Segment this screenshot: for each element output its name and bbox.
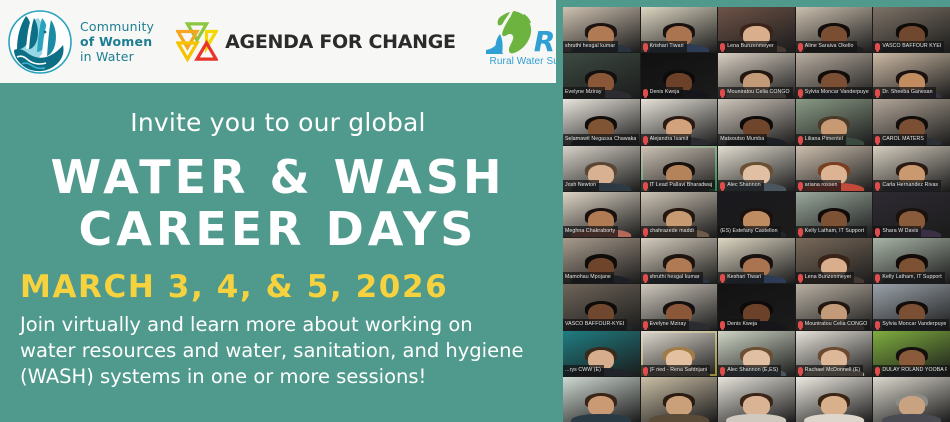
participant-video [873,377,950,422]
globe-icon [484,8,540,58]
muted-mic-icon [875,136,880,143]
invite-body: Join virtually and learn more about work… [14,312,542,390]
muted-mic-icon [720,89,725,96]
participant-name: Evelyne Mziray [650,319,687,330]
participant-tile[interactable] [873,377,950,422]
invite-kicker: Invite you to our global [14,108,542,137]
participant-tile[interactable]: Liliana Pimentel [796,99,873,144]
participant-tile[interactable]: Aline Saraiva Okello [796,7,873,52]
participant-name-bar: Lena Bunzenmeyer [796,272,855,283]
participant-name-bar: chahrazede maddi [641,226,697,237]
invite-copy: Invite you to our global WATER & WASH CA… [0,83,556,422]
participant-tile[interactable]: Sylvia Moncar Vanderpuye [873,284,950,329]
logo-bar: Community of Women in Water AGENDA FOR C… [0,0,556,83]
participant-name: Selamawit Negassa Chawaka [565,134,636,145]
participant-tile[interactable]: Denis Kweja [718,284,795,329]
participant-name-bar: VASCO BAFFOUR KYEI [873,41,944,52]
invite-body-line-1: Join virtually and learn more about work… [20,312,534,338]
participant-name: Keshari Tiwari [727,272,761,283]
cww-faces-circle-icon [8,10,72,74]
participant-tile[interactable]: Lena Bunzenmeyer [718,7,795,52]
participant-tile[interactable]: Josh Newton [563,146,640,191]
muted-mic-icon [798,321,803,328]
participant-tile[interactable]: Kelly Latham, IT Support [873,238,950,283]
participant-name-bar: (F ried - Rena Safdrijani [641,365,711,376]
muted-mic-icon [798,274,803,281]
participant-tile[interactable] [641,377,718,422]
participant-name: Matsoutso Mumba [720,134,764,145]
participant-name: Aline Saraiva Okello [805,41,854,52]
participant-name-bar: Matsoutso Mumba [718,134,767,145]
participant-tile[interactable] [563,377,640,422]
participant-name: ...rys CWW (E) [565,365,601,376]
invite-title-line-1: WATER & WASH [14,151,542,203]
muted-mic-icon [643,89,648,96]
participant-name-bar: Lena Bunzenmeyer [718,41,777,52]
participant-name: (ES) Estefany Castellon [720,226,777,237]
invite-panel: Community of Women in Water AGENDA FOR C… [0,0,556,422]
muted-mic-icon [875,367,880,374]
muted-mic-icon [720,182,725,189]
participant-tile[interactable]: Mouniratou Celia CONGO [718,53,795,98]
participant-name: IT Lead Pallavi Bharadwaj [650,180,713,191]
muted-mic-icon [798,182,803,189]
participant-name-bar: ...rys CWW (E) [563,365,604,376]
participant-tile[interactable]: Carla Hernandez Rivas [873,146,950,191]
participant-name: Kelly Latham, IT Support [805,226,864,237]
participant-name: Dr. Sheeba Ganesan [882,87,932,98]
participant-name: CAROL MATERS [882,134,924,145]
participant-tile[interactable]: Rachael McDonnell (E) [796,331,873,376]
participant-name: Mouniratou Celia CONGO [727,87,789,98]
agenda-for-change-logo: AGENDA FOR CHANGE [176,21,456,63]
muted-mic-icon [798,136,803,143]
participant-tile[interactable]: Mouniratou Celia CONGO [796,284,873,329]
muted-mic-icon [720,274,725,281]
muted-mic-icon [875,321,880,328]
participant-name: VASCO BAFFOUR-KYEI [565,319,624,330]
participant-name-bar: Kelly Latham, IT Support [873,272,944,283]
participant-name-bar: Aline Saraiva Okello [796,41,857,52]
muted-mic-icon [643,43,648,50]
participant-name: chahrazede maddi [650,226,694,237]
participant-name: shruthi hesgal kumar [565,41,615,52]
participant-tile[interactable]: Alec Shannon [718,146,795,191]
participant-video [718,377,795,422]
participant-name: Mamohau Mpojane [565,272,611,283]
muted-mic-icon [643,182,648,189]
participant-name-bar: Selamawit Negassa Chawaka [563,134,639,145]
participant-name: Lena Bunzenmeyer [805,272,852,283]
participant-name: Alec Shannon (E,ES) [727,365,778,376]
participant-name-bar: Rachael McDonnell (E) [796,365,863,376]
participant-tile[interactable]: Alejandra Isamit [641,99,718,144]
participant-name-bar: Mamohau Mpojane [563,272,614,283]
participant-name-bar: shruthi hesgal kumar [641,272,703,283]
participant-name-bar: Keshari Tiwari [718,272,764,283]
muted-mic-icon [798,228,803,235]
muted-mic-icon [643,228,648,235]
muted-mic-icon [643,321,648,328]
participant-name-bar: shruthi hesgal kumar [563,41,618,52]
participant-tile[interactable]: Mamohau Mpojane [563,238,640,283]
participant-name: Denis Kweja [650,87,680,98]
participant-name-bar: VASCO BAFFOUR-KYEI [563,319,627,330]
participant-tile[interactable]: Denis Kweja [641,53,718,98]
participant-torso [804,414,864,422]
agenda-for-change-wordmark: AGENDA FOR CHANGE [225,31,456,53]
muted-mic-icon [798,367,803,374]
participant-video [796,377,873,422]
participant-name-bar: Dr. Sheeba Ganesan [873,87,935,98]
participant-torso [649,414,709,422]
participant-name-bar: CAROL MATERS [873,134,927,145]
participant-name: Lena Bunzenmeyer [727,41,774,52]
cww-line-1: Community [80,19,154,34]
participant-name: Meghna Chakraborty [565,226,615,237]
career-days-invite-poster: Community of Women in Water AGENDA FOR C… [0,0,950,422]
participant-name-bar: Shara W Davis [873,226,921,237]
participant-torso [882,414,942,422]
muted-mic-icon [720,43,725,50]
participant-tile[interactable]: shruthi hesgal kumar [641,238,718,283]
muted-mic-icon [798,43,803,50]
invite-title-line-2: CAREER DAYS [14,203,542,255]
muted-mic-icon [875,228,880,235]
muted-mic-icon [643,136,648,143]
video-call-panel: shruthi hesgal kumarKrishari TiwariLena … [556,0,950,422]
participant-name: Evelyne Mziray [565,87,602,98]
muted-mic-icon [643,367,648,374]
muted-mic-icon [720,321,725,328]
participant-tile[interactable]: Kelly Latham, IT Support [796,192,873,237]
muted-mic-icon [875,89,880,96]
participant-name-bar: Mouniratou Celia CONGO [718,87,792,98]
cww-line-3: in Water [80,49,154,64]
participant-name: ariana rossen [805,180,838,191]
participant-name-bar: Sylvia Moncar Vanderpuye [873,319,949,330]
invite-body-line-3: (WASH) systems in one or more sessions! [20,364,534,390]
participant-name-bar: DULAY ROLAND YOOBA F [873,365,950,376]
participant-name-bar: Liliana Pimentel [796,134,846,145]
participant-tile[interactable]: Evelyne Mziray [563,53,640,98]
muted-mic-icon [720,367,725,374]
participant-name-bar: Evelyne Mziray [641,319,690,330]
participant-name-bar: Kelly Latham, IT Support [796,226,867,237]
participant-tile[interactable]: (ES) Estefany Castellon [718,192,795,237]
participant-name-bar: Sylvia Moncar Vanderpuye [796,87,872,98]
muted-mic-icon [875,182,880,189]
muted-mic-icon [798,89,803,96]
participant-name-bar: IT Lead Pallavi Bharadwaj [641,180,716,191]
participant-tile[interactable]: Matsoutso Mumba [718,99,795,144]
participant-tile[interactable]: Keshari Tiwari [718,238,795,283]
participant-name: Shara W Davis [882,226,918,237]
participant-name: Alejandra Isamit [650,134,689,145]
participant-name: Sylvia Moncar Vanderpuye [805,87,869,98]
participant-tile[interactable]: CAROL MATERS [873,99,950,144]
muted-mic-icon [875,43,880,50]
muted-mic-icon [643,274,648,281]
participant-tile[interactable]: VASCO BAFFOUR-KYEI [563,284,640,329]
participant-name: Josh Newton [565,180,596,191]
participant-name-bar: Denis Kweja [718,319,760,330]
participant-tile[interactable]: Meghna Chakraborty [563,192,640,237]
participant-tile[interactable] [796,377,873,422]
participant-name-bar: Denis Kweja [641,87,683,98]
participant-name-bar: (ES) Estefany Castellon [718,226,780,237]
participant-tile[interactable]: chahrazede maddi [641,192,718,237]
participant-name-bar: Josh Newton [563,180,599,191]
participant-name: Liliana Pimentel [805,134,843,145]
participant-tile[interactable]: ariana rossen [796,146,873,191]
participant-name: (F ried - Rena Safdrijani [650,365,708,376]
participant-tile[interactable]: DULAY ROLAND YOOBA F [873,331,950,376]
participant-video [563,377,640,422]
participant-tile[interactable]: ...rys CWW (E) [563,331,640,376]
participant-tile[interactable]: Selamawit Negassa Chawaka [563,99,640,144]
cww-line-2: of Women [80,34,154,49]
participant-name: Alec Shannon [727,180,761,191]
participant-tile[interactable]: Evelyne Mziray [641,284,718,329]
participant-tile[interactable]: Krishari Tiwari [641,7,718,52]
participant-name-bar: Alec Shannon (E,ES) [718,365,781,376]
participant-name: Mouniratou Celia CONGO [805,319,867,330]
participant-name-bar: Mouniratou Celia CONGO [796,319,870,330]
participant-tile[interactable]: (F ried - Rena Safdrijani [641,331,718,376]
participant-name-bar: ariana rossen [796,180,841,191]
participant-name: Rachael McDonnell (E) [805,365,860,376]
participant-name: Denis Kweja [727,319,757,330]
participant-grid: shruthi hesgal kumarKrishari TiwariLena … [563,7,950,422]
participant-name-bar: Carla Hernandez Rivas [873,180,941,191]
participant-name: VASCO BAFFOUR KYEI [882,41,941,52]
community-of-women-in-water-logo: Community of Women in Water [8,10,154,74]
participant-tile[interactable]: Sylvia Moncar Vanderpuye [796,53,873,98]
participant-video [641,377,718,422]
participant-tile[interactable] [718,377,795,422]
invite-body-line-2: water resources and water, sanitation, a… [20,338,534,364]
participant-name: Kelly Latham, IT Support [882,272,941,283]
participant-name-bar: Alec Shannon [718,180,764,191]
participant-tile[interactable]: Lena Bunzenmeyer [796,238,873,283]
participant-tile[interactable]: IT Lead Pallavi Bharadwaj [641,146,718,191]
participant-tile[interactable]: shruthi hesgal kumar [563,7,640,52]
participant-name-bar: Krishari Tiwari [641,41,687,52]
participant-name: shruthi hesgal kumar [650,272,700,283]
participant-name: DULAY ROLAND YOOBA F [882,365,947,376]
participant-tile[interactable]: VASCO BAFFOUR KYEI [873,7,950,52]
participant-torso [727,414,787,422]
triangles-icon [176,21,218,63]
participant-name-bar: Evelyne Mziray [563,87,605,98]
participant-tile[interactable]: Dr. Sheeba Ganesan [873,53,950,98]
participant-torso [571,414,631,422]
invite-dates: MARCH 3, 4, & 5, 2026 [14,269,542,305]
participant-tile[interactable]: Shara W Davis [873,192,950,237]
participant-name: Krishari Tiwari [650,41,684,52]
muted-mic-icon [875,274,880,281]
participant-name-bar: Alejandra Isamit [641,134,692,145]
participant-tile[interactable]: Alec Shannon (E,ES) [718,331,795,376]
participant-name-bar: Meghna Chakraborty [563,226,618,237]
participant-name: Sylvia Moncar Vanderpuye [882,319,946,330]
participant-name: Carla Hernandez Rivas [882,180,938,191]
invite-title: WATER & WASH CAREER DAYS [14,151,542,255]
